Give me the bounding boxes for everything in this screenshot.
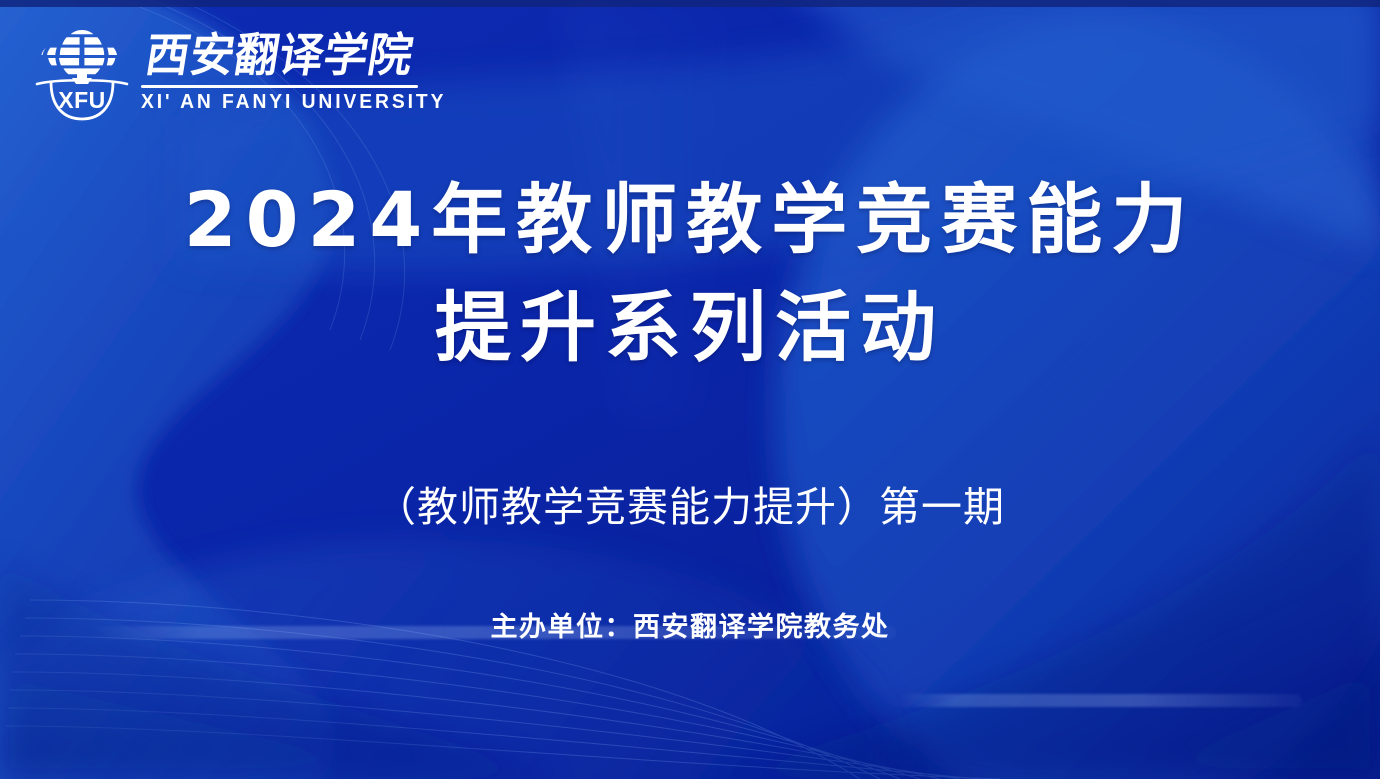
organizer-line: 主办单位：西安翻译学院教务处 — [0, 612, 1380, 644]
main-title: 2024年教师教学竞赛能力 提升系列活动 — [0, 182, 1380, 366]
university-name-cn-text: 西安翻译学院 — [142, 29, 417, 82]
xfu-monogram-text: XFU — [58, 87, 106, 113]
university-name-en: XI' AN FANYI UNIVERSITY — [141, 92, 446, 113]
presentation-title-slide: XFU 西安翻译学院 XI' AN FANYI UNIVERSITY 2024年… — [0, 0, 1380, 779]
main-title-line-2: 提升系列活动 — [0, 290, 1380, 366]
logo-wordmark: 西安翻译学院 XI' AN FANYI UNIVERSITY — [141, 22, 466, 113]
decorative-light-bar-right — [898, 694, 1302, 707]
main-title-line-1: 2024年教师教学竞赛能力 — [0, 182, 1380, 258]
university-logo: XFU 西安翻译学院 XI' AN FANYI UNIVERSITY — [34, 22, 466, 122]
top-edge-strip — [0, 0, 1380, 7]
university-name-cn-calligraphy: 西安翻译学院 — [141, 24, 418, 82]
subtitle: （教师教学竞赛能力提升）第一期 — [0, 483, 1380, 532]
logo-divider-rule — [141, 85, 418, 88]
xfu-globe-emblem-icon: XFU — [34, 22, 130, 122]
